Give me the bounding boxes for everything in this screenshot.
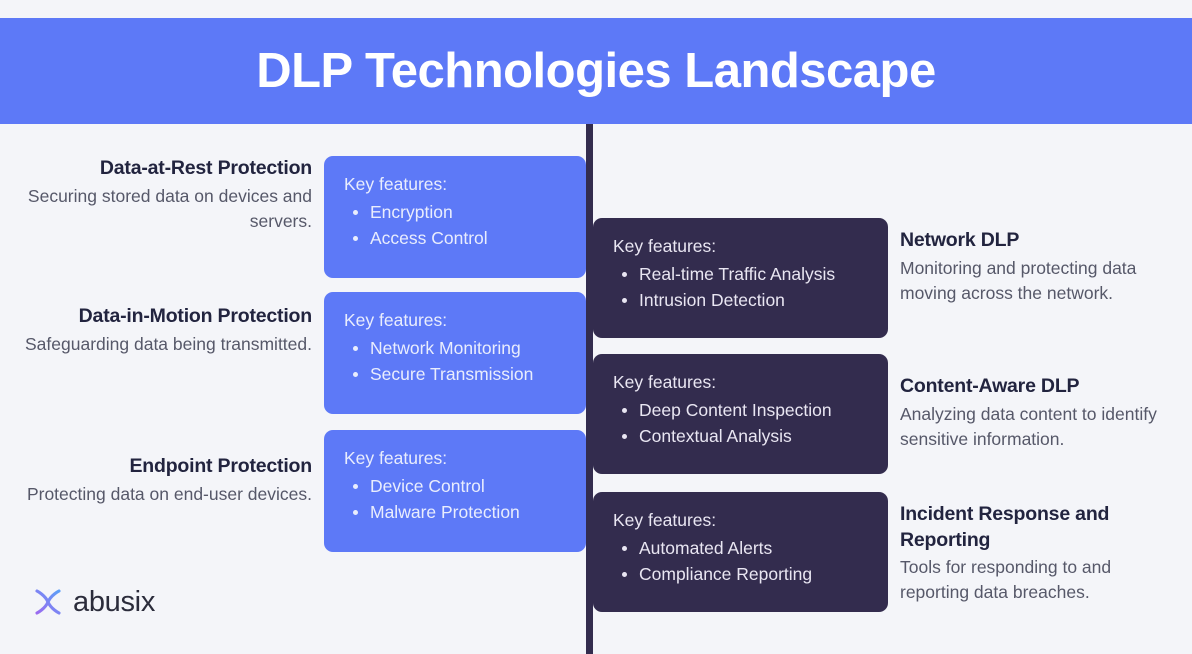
list-item: Compliance Reporting bbox=[613, 561, 868, 588]
abusix-logo: abusix bbox=[32, 586, 155, 618]
left-card-2: Key features: Network Monitoring Secure … bbox=[324, 292, 586, 414]
left-item-3: Endpoint Protection Protecting data on e… bbox=[10, 454, 312, 507]
right-card-2-list: Deep Content Inspection Contextual Analy… bbox=[613, 397, 868, 450]
left-card-1-label: Key features: bbox=[344, 174, 566, 196]
list-item: Malware Protection bbox=[344, 499, 566, 526]
list-item: Deep Content Inspection bbox=[613, 397, 868, 424]
left-card-2-label: Key features: bbox=[344, 310, 566, 332]
left-card-1: Key features: Encryption Access Control bbox=[324, 156, 586, 278]
left-item-2-title: Data-in-Motion Protection bbox=[10, 304, 312, 330]
left-item-2: Data-in-Motion Protection Safeguarding d… bbox=[10, 304, 312, 357]
right-item-1-description: Monitoring and protecting data moving ac… bbox=[900, 256, 1185, 306]
right-card-1-list: Real-time Traffic Analysis Intrusion Det… bbox=[613, 261, 868, 314]
list-item: Real-time Traffic Analysis bbox=[613, 261, 868, 288]
left-item-3-description: Protecting data on end-user devices. bbox=[10, 482, 312, 507]
right-card-2-label: Key features: bbox=[613, 372, 868, 394]
left-item-1-description: Securing stored data on devices and serv… bbox=[10, 184, 312, 234]
abusix-x-mark-icon bbox=[32, 586, 64, 618]
right-card-1: Key features: Real-time Traffic Analysis… bbox=[593, 218, 888, 338]
right-card-2: Key features: Deep Content Inspection Co… bbox=[593, 354, 888, 474]
right-item-1-title: Network DLP bbox=[900, 228, 1185, 254]
right-card-3: Key features: Automated Alerts Complianc… bbox=[593, 492, 888, 612]
center-divider bbox=[586, 124, 593, 654]
left-card-1-list: Encryption Access Control bbox=[344, 199, 566, 252]
left-card-2-list: Network Monitoring Secure Transmission bbox=[344, 335, 566, 388]
list-item: Device Control bbox=[344, 473, 566, 500]
left-item-3-title: Endpoint Protection bbox=[10, 454, 312, 480]
list-item: Network Monitoring bbox=[344, 335, 566, 362]
right-item-3: Incident Response and Reporting Tools fo… bbox=[900, 502, 1148, 606]
list-item: Encryption bbox=[344, 199, 566, 226]
list-item: Secure Transmission bbox=[344, 361, 566, 388]
left-item-1: Data-at-Rest Protection Securing stored … bbox=[10, 156, 312, 234]
list-item: Access Control bbox=[344, 225, 566, 252]
right-item-1: Network DLP Monitoring and protecting da… bbox=[900, 228, 1185, 306]
left-card-3-label: Key features: bbox=[344, 448, 566, 470]
right-item-2-description: Analyzing data content to identify sensi… bbox=[900, 402, 1192, 452]
abusix-logo-text: abusix bbox=[73, 588, 155, 617]
right-item-3-description: Tools for responding to and reporting da… bbox=[900, 555, 1148, 605]
infographic-body: Data-at-Rest Protection Securing stored … bbox=[0, 124, 1192, 654]
left-item-2-description: Safeguarding data being transmitted. bbox=[10, 332, 312, 357]
left-item-1-title: Data-at-Rest Protection bbox=[10, 156, 312, 182]
list-item: Automated Alerts bbox=[613, 535, 868, 562]
right-card-1-label: Key features: bbox=[613, 236, 868, 258]
right-item-3-title: Incident Response and Reporting bbox=[900, 502, 1148, 553]
left-card-3-list: Device Control Malware Protection bbox=[344, 473, 566, 526]
header-banner: DLP Technologies Landscape bbox=[0, 18, 1192, 124]
right-card-3-label: Key features: bbox=[613, 510, 868, 532]
page-title: DLP Technologies Landscape bbox=[256, 47, 936, 96]
list-item: Intrusion Detection bbox=[613, 287, 868, 314]
left-card-3: Key features: Device Control Malware Pro… bbox=[324, 430, 586, 552]
list-item: Contextual Analysis bbox=[613, 423, 868, 450]
right-card-3-list: Automated Alerts Compliance Reporting bbox=[613, 535, 868, 588]
right-item-2-title: Content-Aware DLP bbox=[900, 374, 1192, 400]
right-item-2: Content-Aware DLP Analyzing data content… bbox=[900, 374, 1192, 452]
